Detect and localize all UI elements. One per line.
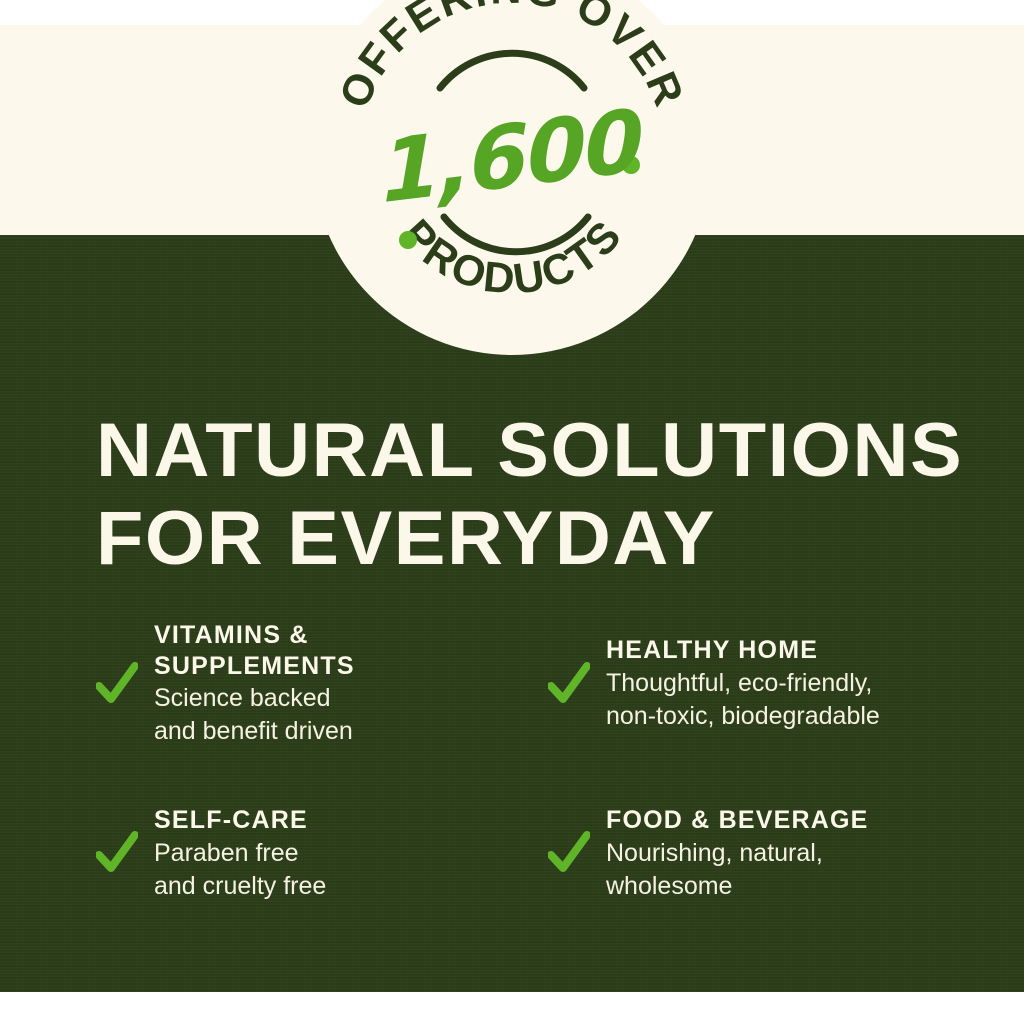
badge-inner: OFFERING OVER PRODUCTS 1,600 bbox=[312, 0, 712, 355]
feature-desc-line-2: wholesome bbox=[606, 870, 868, 902]
feature-text: FOOD & BEVERAGE Nourishing, natural, who… bbox=[606, 805, 868, 902]
feature-title-line-1: SELF-CARE bbox=[154, 805, 326, 836]
feature-desc-line-1: Nourishing, natural, bbox=[606, 837, 868, 869]
feature-item-vitamins-supplements: VITAMINS & SUPPLEMENTS Science backed an… bbox=[96, 620, 548, 747]
check-icon bbox=[96, 661, 138, 707]
feature-desc-line-1: Thoughtful, eco-friendly, bbox=[606, 667, 880, 699]
check-icon bbox=[96, 830, 138, 876]
feature-text: SELF-CARE Paraben free and cruelty free bbox=[154, 805, 326, 902]
page-title: NATURAL SOLUTIONS FOR EVERYDAY bbox=[96, 412, 976, 577]
feature-text: VITAMINS & SUPPLEMENTS Science backed an… bbox=[154, 620, 355, 747]
feature-item-healthy-home: HEALTHY HOME Thoughtful, eco-friendly, n… bbox=[548, 620, 996, 747]
badge-number-wrap: 1,600 bbox=[312, 0, 712, 355]
feature-title-line-1: VITAMINS & bbox=[154, 620, 355, 651]
feature-desc-line-2: non-toxic, biodegradable bbox=[606, 700, 880, 732]
headline-line-2: FOR EVERYDAY bbox=[96, 500, 994, 578]
promo-poster: OFFERING OVER PRODUCTS 1,600 NATURAL SOL… bbox=[0, 0, 1024, 1024]
offering-over-products-badge: OFFERING OVER PRODUCTS 1,600 bbox=[312, 0, 712, 355]
feature-title-line-1: FOOD & BEVERAGE bbox=[606, 805, 868, 836]
feature-desc-line-1: Paraben free bbox=[154, 837, 326, 869]
feature-desc-line-2: and benefit driven bbox=[154, 715, 355, 747]
feature-title-line-1: HEALTHY HOME bbox=[606, 635, 880, 666]
feature-item-food-beverage: FOOD & BEVERAGE Nourishing, natural, who… bbox=[548, 805, 996, 902]
headline-line-1: NATURAL SOLUTIONS bbox=[96, 412, 994, 490]
feature-text: HEALTHY HOME Thoughtful, eco-friendly, n… bbox=[606, 635, 880, 732]
feature-grid: VITAMINS & SUPPLEMENTS Science backed an… bbox=[96, 620, 996, 902]
badge-number: 1,600 bbox=[381, 98, 643, 216]
feature-desc-line-1: Science backed bbox=[154, 682, 355, 714]
feature-item-self-care: SELF-CARE Paraben free and cruelty free bbox=[96, 805, 548, 902]
check-icon bbox=[548, 830, 590, 876]
feature-desc-line-2: and cruelty free bbox=[154, 870, 326, 902]
check-icon bbox=[548, 661, 590, 707]
feature-title-line-2: SUPPLEMENTS bbox=[154, 651, 355, 682]
